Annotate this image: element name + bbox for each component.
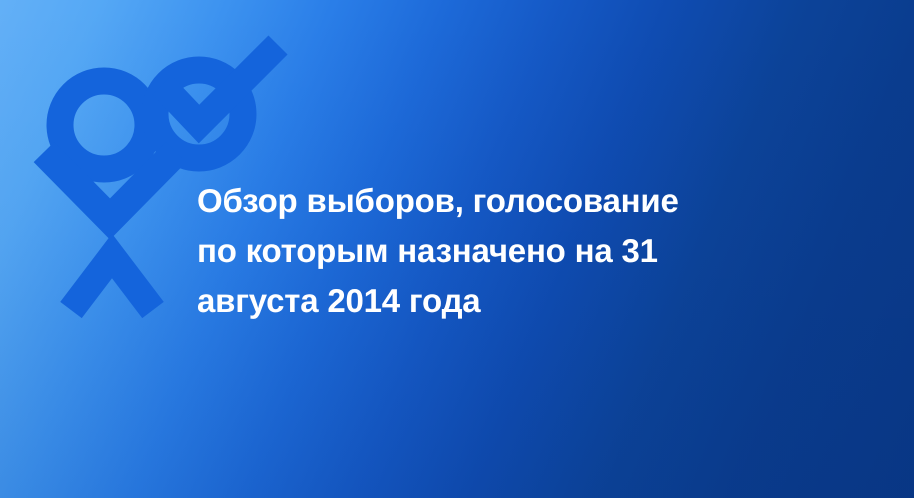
page-title: Обзор выборов, голосование по которым на… xyxy=(197,176,737,326)
banner-slide: Обзор выборов, голосование по которым на… xyxy=(0,0,914,498)
logo-ring-icon xyxy=(60,81,148,169)
logo-legs-icon xyxy=(71,256,153,310)
logo-checkmark-icon xyxy=(162,45,278,124)
